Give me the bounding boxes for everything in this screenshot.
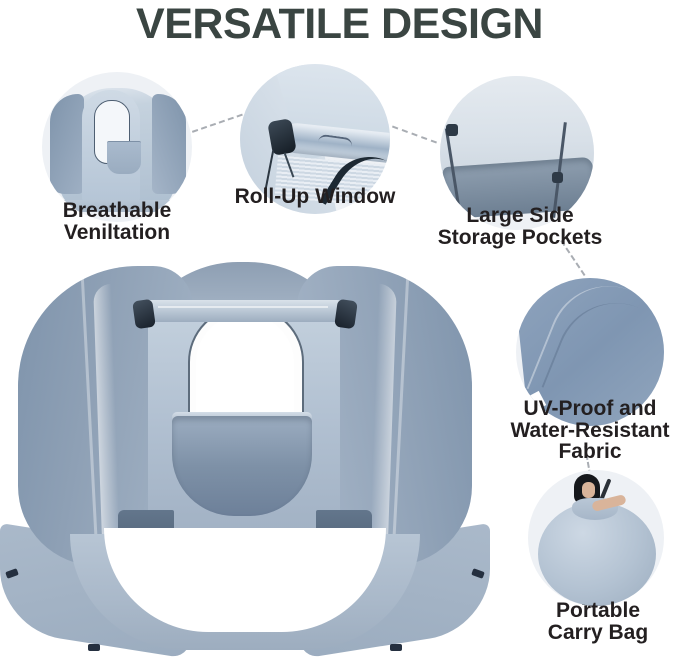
pop-up-tent-product-image — [0, 252, 490, 661]
caption-line: Carry Bag — [520, 622, 676, 644]
tent-ridge-seam-shape — [140, 300, 348, 322]
portable-carry-bag-image — [528, 470, 664, 606]
pole-tab-shape — [552, 172, 563, 183]
caption-line: UV-Proof and — [494, 398, 679, 420]
panel-highlight-shape — [93, 284, 121, 566]
tent-stake-loop — [390, 644, 402, 651]
caption-line: Fabric — [494, 441, 679, 463]
pole-tab-shape — [446, 124, 458, 136]
tent-window-opening-shape — [94, 100, 130, 164]
caption-line: Large Side — [420, 205, 620, 227]
caption-line: Portable — [520, 600, 676, 622]
tent-floor-interior-shape — [104, 528, 386, 632]
tent-right-panel-shape — [152, 94, 186, 194]
portable-carry-bag-caption: Portable Carry Bag — [520, 600, 676, 643]
tent-door-arch-opening — [188, 306, 304, 428]
caption-line: Storage Pockets — [420, 227, 620, 249]
breathable-ventilation-caption: Breathable Veniltation — [8, 200, 226, 243]
tent-door-shape — [82, 90, 140, 202]
caption-line: Breathable — [8, 200, 226, 222]
tent-clip-left — [132, 299, 156, 330]
caption-line: Veniltation — [8, 222, 226, 244]
page-title: VERSATILE DESIGN — [0, 0, 679, 50]
tent-clip-right — [334, 299, 358, 330]
person-face-shape — [582, 482, 595, 498]
tent-window-pocket-shape — [107, 141, 141, 174]
roll-up-window-caption: Roll-Up Window — [210, 186, 420, 208]
storage-pocket-shape — [172, 416, 312, 516]
caption-line: Water-Resistant — [494, 420, 679, 442]
tent-stake-loop — [88, 644, 100, 651]
caption-line: Roll-Up Window — [210, 186, 420, 208]
uv-proof-water-resistant-fabric-caption: UV-Proof and Water-Resistant Fabric — [494, 398, 679, 463]
tent-left-panel-shape — [50, 94, 84, 194]
tent-panel-center — [148, 310, 340, 562]
door-opening-interior-shape — [196, 314, 294, 418]
large-side-storage-pockets-caption: Large Side Storage Pockets — [420, 205, 620, 248]
